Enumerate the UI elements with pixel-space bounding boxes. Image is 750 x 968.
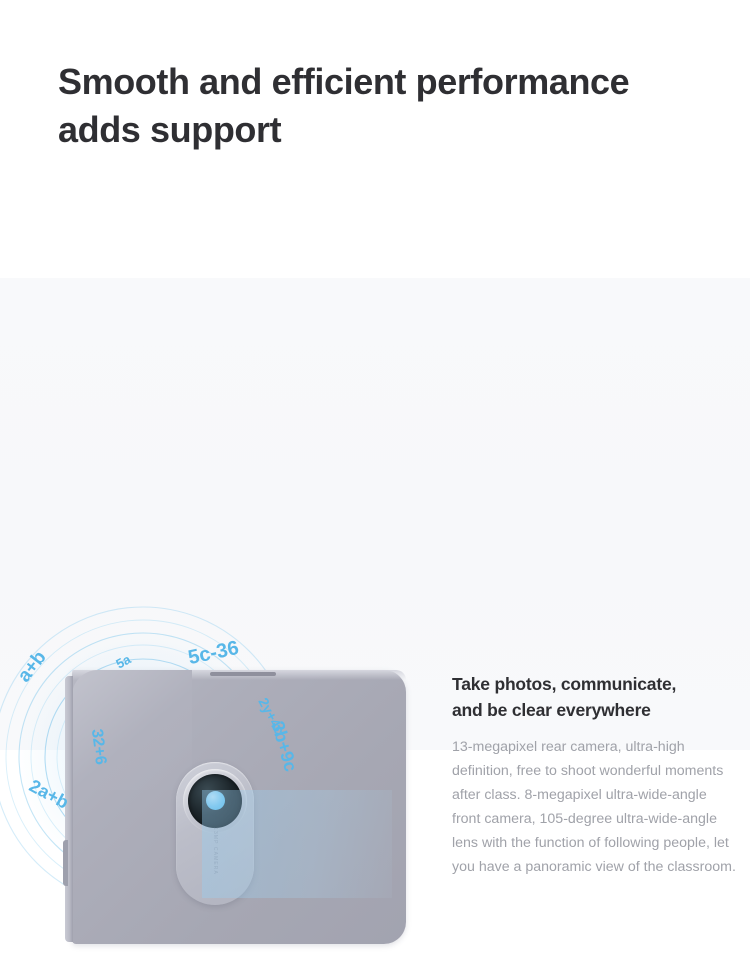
tablet-side-edge: [65, 676, 73, 942]
tablet-corner-highlight: [72, 670, 192, 790]
camera-lens-glass: [188, 774, 242, 828]
feature-copy-block: Take photos, communicate, and be clear e…: [452, 671, 736, 879]
feature-heading: Take photos, communicate, and be clear e…: [452, 671, 736, 723]
tablet-back-panel: 13MP CAMERA: [72, 670, 406, 944]
feature-description: 13-megapixel rear camera, ultra-high def…: [452, 735, 736, 879]
camera-lens-aperture: [206, 791, 225, 810]
feature-band: 13MP CAMERA a+b 5a 5c-36 2y+4c 3b+9c 32+…: [0, 278, 750, 750]
hero-band: Smooth and efficient performance adds su…: [0, 0, 750, 278]
volume-button: [63, 840, 68, 886]
camera-spec-label: 13MP CAMERA: [212, 824, 218, 878]
tablet-camera-illustration: 13MP CAMERA a+b 5a 5c-36 2y+4c 3b+9c 32+…: [0, 608, 420, 968]
tablet-antenna-slot: [210, 672, 276, 676]
page-title: Smooth and efficient performance adds su…: [58, 58, 718, 154]
camera-module: 13MP CAMERA: [176, 762, 254, 905]
